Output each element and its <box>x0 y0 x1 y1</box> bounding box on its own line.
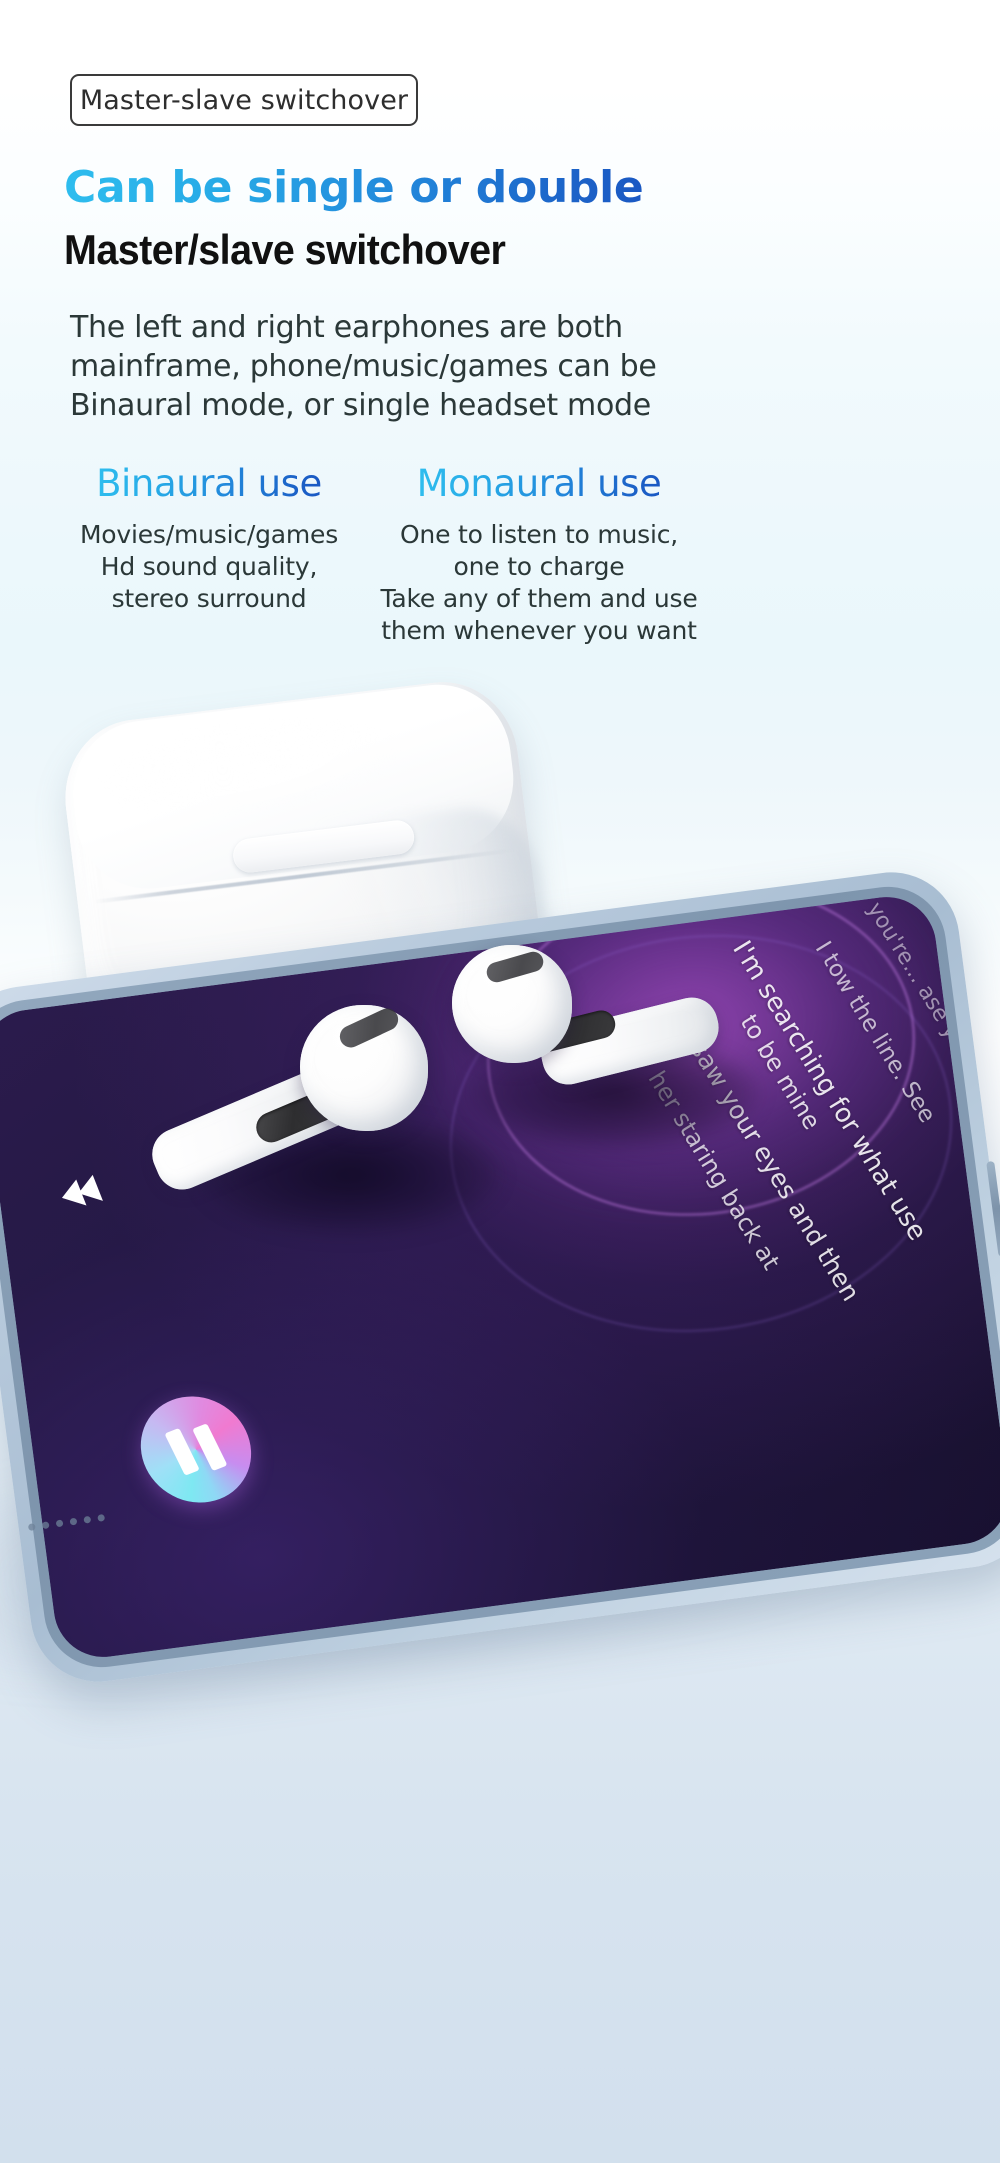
section-badge-label: Master-slave switchover <box>80 85 408 116</box>
pause-bar-right <box>192 1423 227 1471</box>
description-paragraph: The left and right earphones are both ma… <box>70 308 690 425</box>
usage-column-monaural-title-text: Monaural use <box>417 462 662 505</box>
usage-column-binaural-title: Binaural use <box>44 462 374 505</box>
page-title-blue-text: Can be single or double <box>64 162 643 213</box>
section-badge: Master-slave switchover <box>70 74 418 126</box>
usage-column-monaural-title: Monaural use <box>374 462 704 505</box>
product-marketing-page: Master-slave switchover Can be single or… <box>0 0 1000 2163</box>
page-title-blue: Can be single or double <box>64 162 643 213</box>
page-subtitle: Master/slave switchover <box>64 226 505 274</box>
usage-column-monaural: Monaural use One to listen to music, one… <box>374 462 704 647</box>
usage-column-binaural: Binaural use Movies/music/games Hd sound… <box>44 462 374 647</box>
usage-column-binaural-body: Movies/music/games Hd sound quality, ste… <box>44 519 374 615</box>
usage-columns: Binaural use Movies/music/games Hd sound… <box>44 462 704 647</box>
usage-column-binaural-title-text: Binaural use <box>96 462 322 505</box>
product-photo: saw her staring back at I saw your eyes … <box>0 645 1000 2163</box>
usage-column-monaural-body: One to listen to music, one to charge Ta… <box>374 519 704 647</box>
